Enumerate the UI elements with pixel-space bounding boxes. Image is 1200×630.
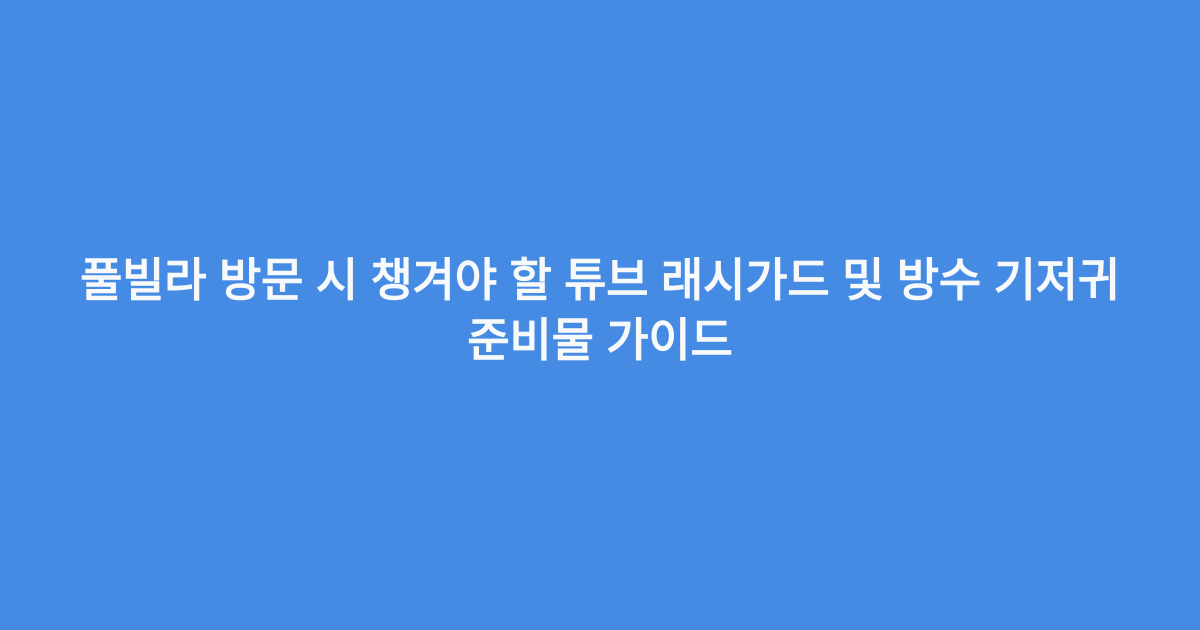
page-title: 풀빌라 방문 시 챙겨야 할 튜브 래시가드 및 방수 기저귀 준비물 가이드	[80, 250, 1120, 370]
title-block: 풀빌라 방문 시 챙겨야 할 튜브 래시가드 및 방수 기저귀 준비물 가이드	[70, 250, 1130, 370]
og-title-card: 풀빌라 방문 시 챙겨야 할 튜브 래시가드 및 방수 기저귀 준비물 가이드	[0, 0, 1200, 630]
